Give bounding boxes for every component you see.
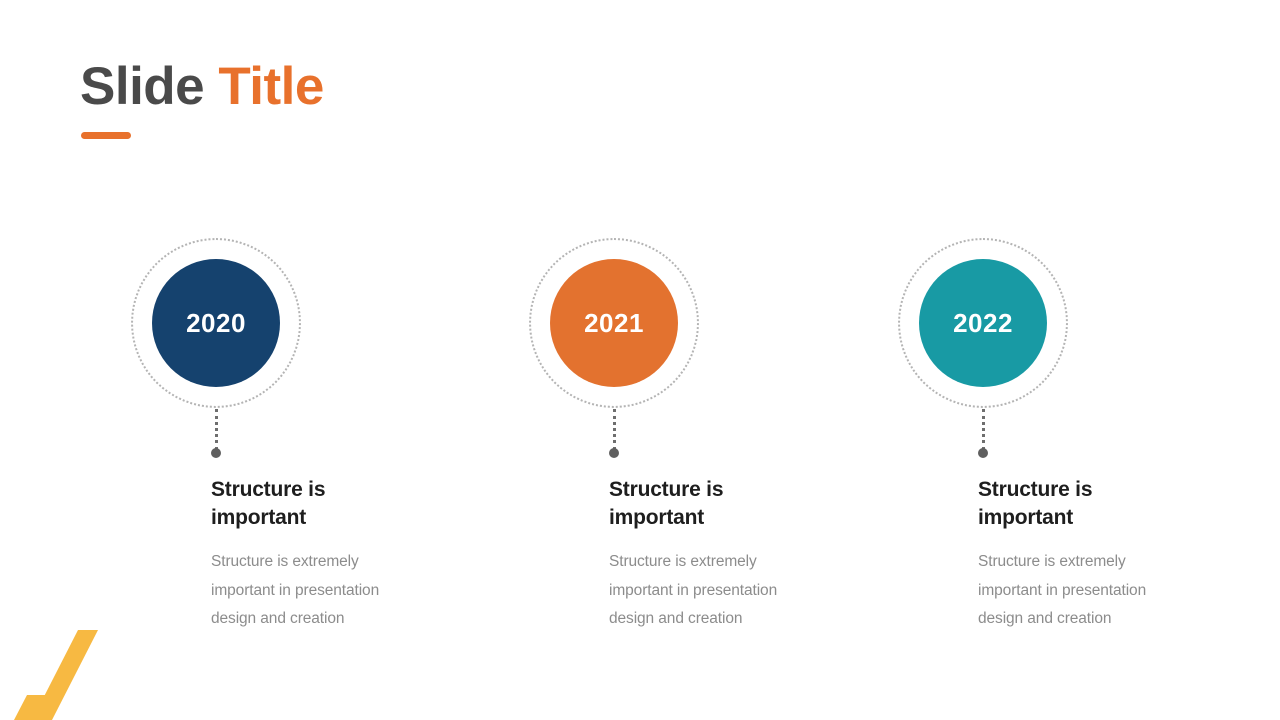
year-badge-2022[interactable]: 2022 <box>919 259 1047 387</box>
connector-line <box>215 409 218 450</box>
column-body-text: Structure is extremely important in pres… <box>211 548 426 634</box>
year-badge-2021[interactable]: 2021 <box>550 259 678 387</box>
year-badge-2020[interactable]: 2020 <box>152 259 280 387</box>
slide-canvas: Slide Title 2020 Structure is important … <box>0 0 1280 720</box>
connector-line <box>613 409 616 450</box>
column-heading: Structure is important <box>211 476 411 531</box>
column-heading: Structure is important <box>609 476 809 531</box>
column-heading: Structure is important <box>978 476 1178 531</box>
year-label: 2020 <box>186 308 246 339</box>
connector-dot-icon <box>609 448 619 458</box>
year-label: 2022 <box>953 308 1013 339</box>
connector-line <box>982 409 985 450</box>
year-label: 2021 <box>584 308 644 339</box>
connector-dot-icon <box>978 448 988 458</box>
connector-dot-icon <box>211 448 221 458</box>
timeline-column-2020: 2020 Structure is important Structure is… <box>21 0 411 720</box>
timeline-column-2021: 2021 Structure is important Structure is… <box>419 0 809 720</box>
timeline-columns: 2020 Structure is important Structure is… <box>0 0 1280 720</box>
timeline-column-2022: 2022 Structure is important Structure is… <box>788 0 1178 720</box>
column-body-text: Structure is extremely important in pres… <box>978 548 1193 634</box>
